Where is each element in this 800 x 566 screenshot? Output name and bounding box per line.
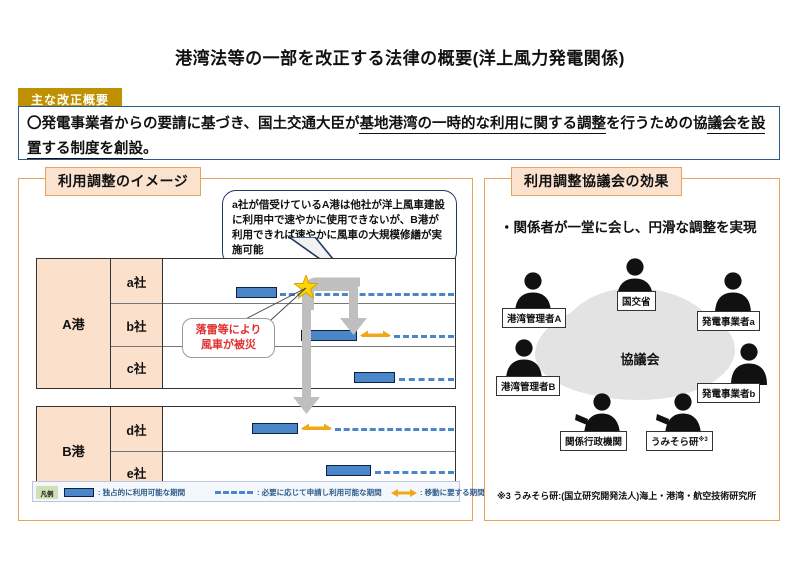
port-name-cell: A港 [37, 259, 111, 388]
actor-label-footnote-marker: ※3 [699, 437, 708, 443]
actor-label: 港湾管理者A [502, 308, 566, 328]
mini-callout-line-2: 風車が被災 [189, 338, 268, 353]
gantt-bar-e [326, 465, 371, 476]
legend-label-on-request: : 必要に応じて申請し利用可能な期間 [257, 486, 382, 499]
actor-label: うみそら研※3 [646, 431, 713, 451]
gantt-bar-c [354, 372, 395, 383]
actor-label: 関係行政機関 [560, 431, 627, 451]
legend-tag: 凡例 [36, 486, 58, 499]
panel-right-title: 利用調整協議会の効果 [511, 167, 682, 196]
summary-part-2: を行うための協 [606, 116, 708, 132]
gantt-dash-b [394, 335, 454, 338]
gray-arrowhead-d-icon [293, 397, 320, 414]
person-icon [727, 343, 771, 385]
summary-text: 〇発電事業者からの要請に基づき、国土交通大臣が基地港湾の一時的な利用に関する調整… [27, 112, 775, 162]
actor-label: 発電事業者a [697, 311, 760, 331]
summary-box: 〇発電事業者からの要請に基づき、国土交通大臣が基地港湾の一時的な利用に関する調整… [18, 106, 780, 160]
council-label: 協議会 [590, 349, 690, 368]
actor-label: 国交省 [617, 291, 656, 311]
company-cell-b: b社 [111, 303, 162, 346]
gray-arrowhead-b-icon [340, 318, 367, 335]
summary-underline-1: 基地港湾の一時的な利用に関する調整 [359, 116, 606, 134]
gantt-dash-e [375, 471, 454, 474]
mini-callout-line-1: 落雷等により [189, 323, 268, 338]
gantt-dash-c [399, 378, 454, 381]
company-cell-c: c社 [111, 346, 162, 388]
company-cell-a: a社 [111, 259, 162, 303]
person-icon [711, 272, 755, 314]
legend-swatch-blue-dash [215, 491, 253, 494]
footnote-umisora: ※3 うみそら研:(国立研究開発法人)海上・港湾・航空技術研究所 [497, 489, 777, 502]
panel-left-title: 利用調整のイメージ [45, 167, 201, 196]
legend-swatch-solid-bar [64, 488, 94, 497]
actor-label-text: うみそら研 [651, 437, 699, 448]
callout-lightning-damage: 落雷等により 風車が被災 [182, 318, 275, 358]
gantt-bar-d [252, 423, 298, 434]
gray-flow-stem-2 [349, 282, 358, 323]
company-cell-d: d社 [111, 407, 162, 451]
summary-part-1: 〇発電事業者からの要請に基づき、国土交通大臣が [27, 116, 359, 132]
gantt-legend: 凡例 : 独占的に利用可能な期間 : 必要に応じて申請し利用可能な期間 : 移動… [32, 481, 460, 502]
legend-label-exclusive: : 独占的に利用可能な期間 [98, 486, 185, 499]
page-title: 港湾法等の一部を改正する法律の概要(洋上風力発電関係) [0, 44, 800, 69]
gantt-dash-d [335, 428, 454, 431]
company-column-a: a社 b社 c社 [111, 259, 163, 388]
actor-label: 港湾管理者B [496, 376, 560, 396]
gantt-row-divider [163, 451, 455, 452]
effect-statement: ・関係者が一堂に会し、円滑な調整を実現 [500, 216, 770, 236]
legend-swatch-orange-arrow [391, 486, 417, 504]
summary-part-3: 。 [143, 141, 158, 157]
person-icon [502, 339, 546, 381]
gantt-move-arrow-d-icon [301, 421, 332, 430]
legend-label-transfer: : 移動に要する期間 [420, 486, 485, 499]
